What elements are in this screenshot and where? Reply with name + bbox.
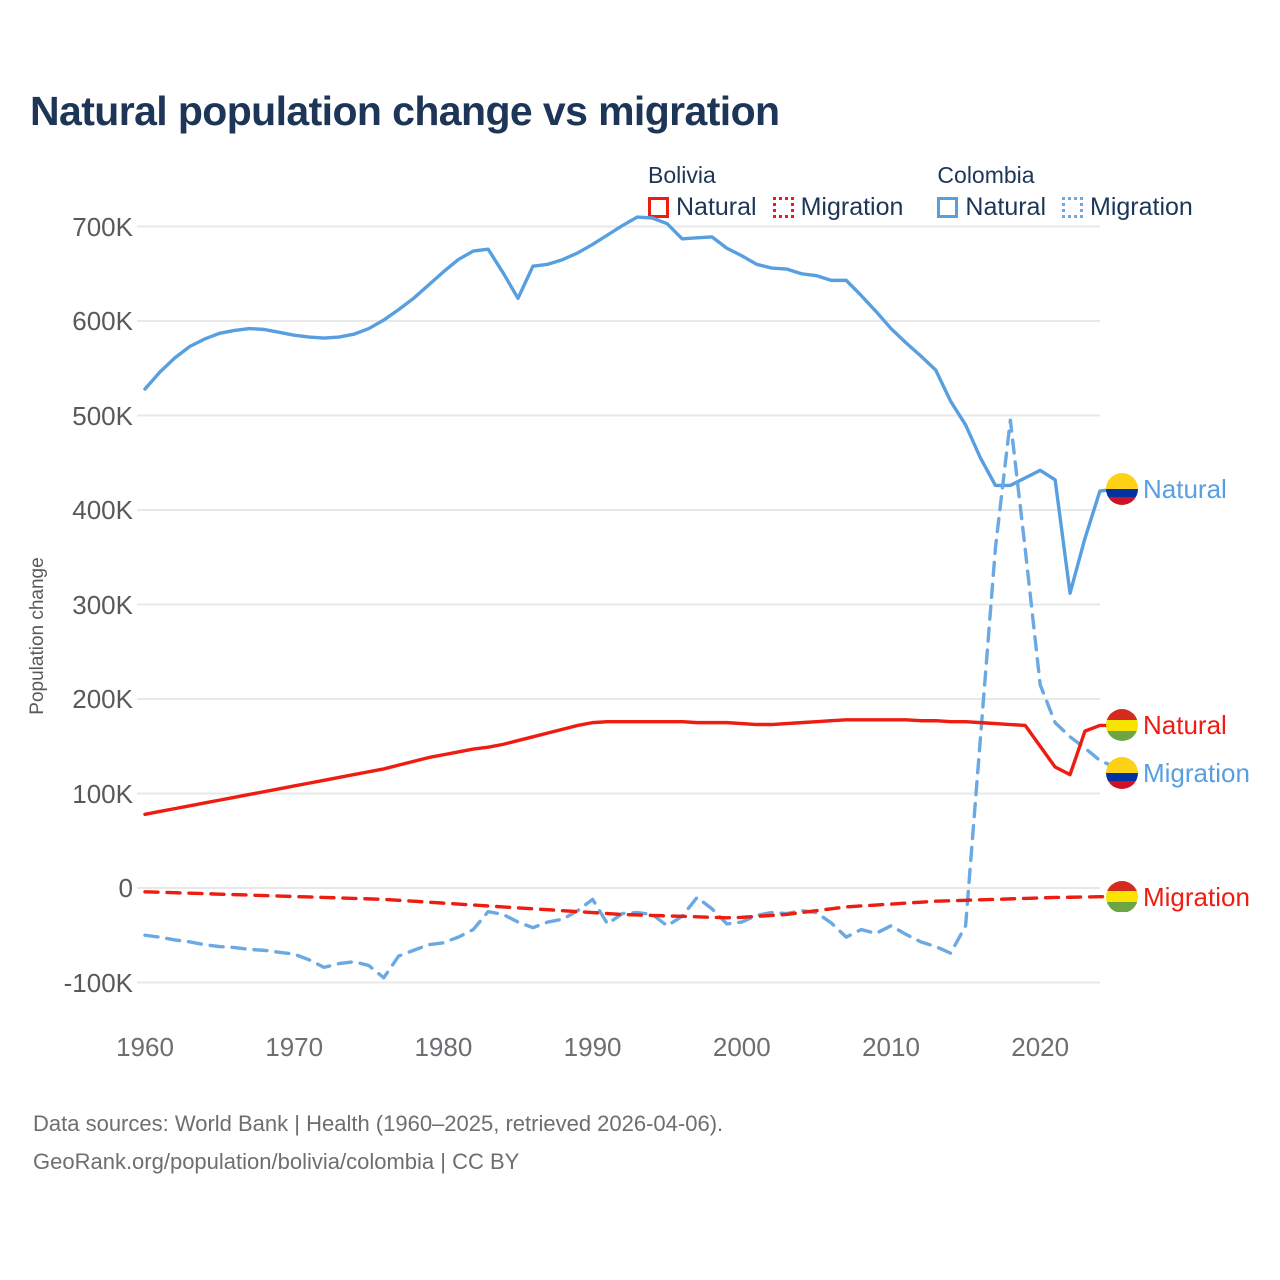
x-axis-tick-label: 1990	[564, 1034, 622, 1060]
series-end-label[interactable]: Migration	[1106, 757, 1250, 789]
footer-attribution: GeoRank.org/population/bolivia/colombia …	[33, 1143, 723, 1181]
y-axis-tick-label: -100K	[64, 970, 133, 996]
bolivia-flag-icon	[1106, 709, 1138, 741]
x-axis-tick-label: 2000	[713, 1034, 771, 1060]
x-axis-tick-label: 2010	[862, 1034, 920, 1060]
gridlines	[137, 227, 1100, 983]
y-axis-tick-label: 700K	[72, 214, 133, 240]
x-axis-tick-label: 1980	[414, 1034, 472, 1060]
y-axis-title: Population change	[27, 536, 49, 736]
series-end-label-text: Natural	[1143, 475, 1227, 503]
y-axis-tick-label: 100K	[72, 781, 133, 807]
series-end-label[interactable]: Natural	[1106, 709, 1227, 741]
series-end-label[interactable]: Migration	[1106, 881, 1250, 913]
series-line	[145, 217, 1115, 593]
y-axis-tick-label: 0	[119, 875, 133, 901]
footer-data-sources: Data sources: World Bank | Health (1960–…	[33, 1105, 723, 1143]
series-end-label-text: Migration	[1143, 883, 1250, 911]
colombia-flag-icon	[1106, 757, 1138, 789]
colombia-flag-icon	[1106, 473, 1138, 505]
y-axis-tick-label: 300K	[72, 592, 133, 618]
x-axis-tick-label: 1970	[265, 1034, 323, 1060]
plot-svg	[0, 0, 1280, 1280]
y-axis-tick-label: 600K	[72, 308, 133, 334]
y-axis-tick-label: 200K	[72, 686, 133, 712]
y-axis-tick-label: 500K	[72, 403, 133, 429]
end-connectors	[1108, 489, 1115, 896]
x-axis-tick-label: 2020	[1011, 1034, 1069, 1060]
bolivia-flag-icon	[1106, 881, 1138, 913]
series-lines	[145, 217, 1115, 978]
plot-area: -100K0100K200K300K400K500K600K700K 19601…	[0, 0, 1280, 1280]
x-axis-tick-label: 1960	[116, 1034, 174, 1060]
series-end-label-text: Migration	[1143, 759, 1250, 787]
series-line	[145, 720, 1115, 815]
series-end-label[interactable]: Natural	[1106, 473, 1227, 505]
y-axis-tick-label: 400K	[72, 497, 133, 523]
series-end-label-text: Natural	[1143, 711, 1227, 739]
chart-root: Natural population change vs migration B…	[0, 0, 1280, 1280]
footer: Data sources: World Bank | Health (1960–…	[33, 1105, 723, 1181]
